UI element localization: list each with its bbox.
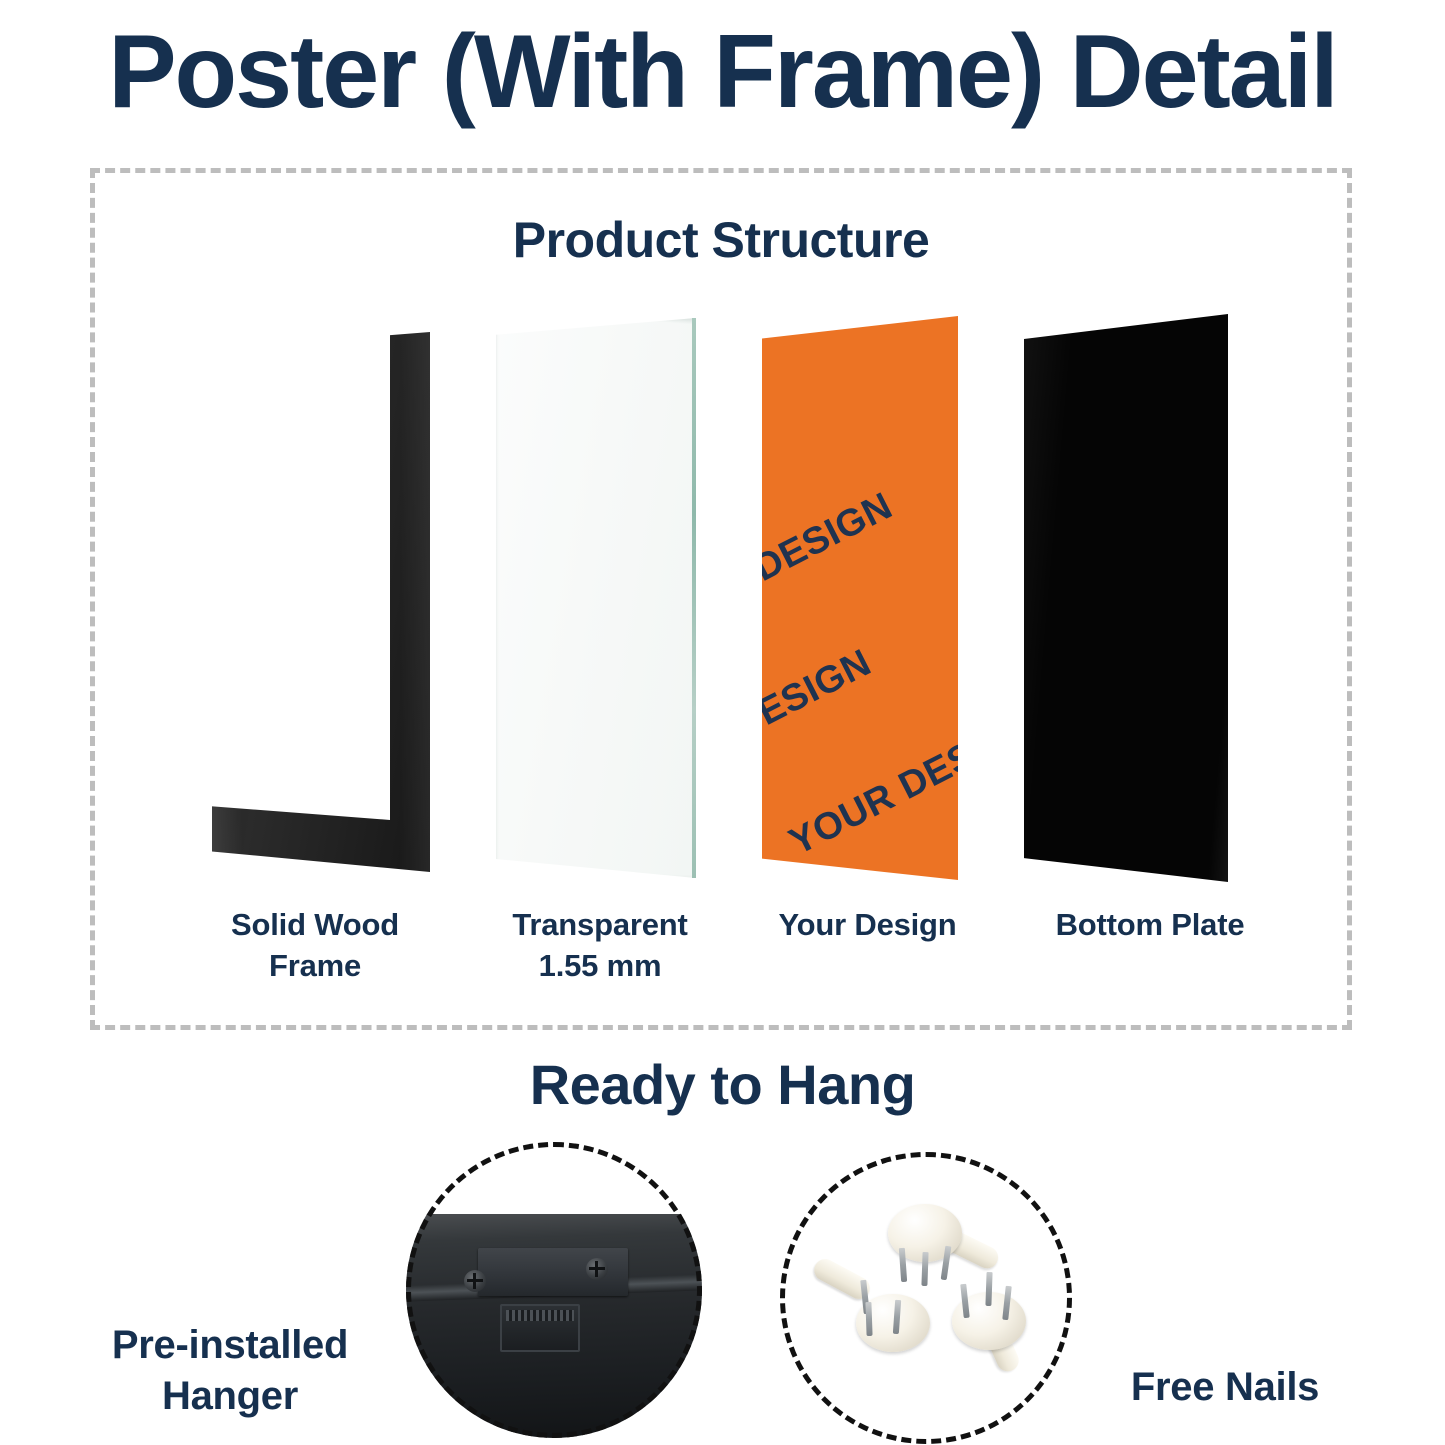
- caption-line-1: Pre-installed: [40, 1320, 420, 1371]
- caption-your-design: Your Design: [735, 905, 1000, 946]
- component-your-design: YOUR DESIGN YOUR DESIGN YOUR DESIGN YOUR…: [750, 300, 980, 900]
- caption-line-1: Your Design: [735, 905, 1000, 946]
- caption-line-1: Bottom Plate: [1000, 905, 1300, 946]
- component-transparent-sheet: [480, 300, 710, 900]
- design-surface: YOUR DESIGN YOUR DESIGN YOUR DESIGN YOUR…: [762, 316, 958, 880]
- glass-right-edge: [692, 318, 696, 878]
- exploded-component-row: YOUR DESIGN YOUR DESIGN YOUR DESIGN YOUR…: [90, 300, 1352, 900]
- frame-illustration: [190, 300, 450, 900]
- plate-illustration: [1010, 300, 1250, 900]
- component-bottom-plate: [1010, 300, 1250, 900]
- component-solid-wood-frame: [190, 300, 450, 900]
- caption-solid-wood-frame: Solid Wood Frame: [175, 905, 455, 987]
- caption-line-1: Solid Wood: [175, 905, 455, 946]
- product-structure-heading: Product Structure: [95, 211, 1347, 269]
- glass-top-reflection: [496, 318, 696, 878]
- caption-line-2: Frame: [175, 946, 455, 987]
- ready-to-hang-heading: Ready to Hang: [0, 1052, 1445, 1117]
- glass-illustration: [480, 300, 710, 900]
- caption-free-nails: Free Nails: [1040, 1362, 1410, 1413]
- nails-dashed-ring: [780, 1152, 1072, 1444]
- frame-bevel-highlight: [212, 332, 430, 872]
- caption-transparent-sheet: Transparent 1.55 mm: [455, 905, 745, 987]
- caption-line-1: Free Nails: [1040, 1362, 1410, 1413]
- watermark-text: YOUR DESIGN: [762, 864, 958, 880]
- caption-line-2: Hanger: [40, 1371, 420, 1422]
- watermark-text: YOUR DESIGN: [783, 703, 958, 865]
- caption-bottom-plate: Bottom Plate: [1000, 905, 1300, 946]
- page-title: Poster (With Frame) Detail: [11, 18, 1434, 127]
- caption-pre-installed-hanger: Pre-installed Hanger: [40, 1320, 420, 1422]
- plate-sheen-highlight: [1024, 314, 1228, 882]
- caption-line-2: 1.55 mm: [455, 946, 745, 987]
- design-illustration: YOUR DESIGN YOUR DESIGN YOUR DESIGN YOUR…: [750, 300, 980, 900]
- hanger-dashed-ring: [406, 1142, 702, 1438]
- design-watermark-layer: YOUR DESIGN YOUR DESIGN YOUR DESIGN YOUR…: [762, 316, 958, 880]
- caption-line-1: Transparent: [455, 905, 745, 946]
- watermark-text: YOUR DESIGN: [762, 642, 878, 804]
- watermark-text: YOUR DESIGN: [762, 485, 900, 647]
